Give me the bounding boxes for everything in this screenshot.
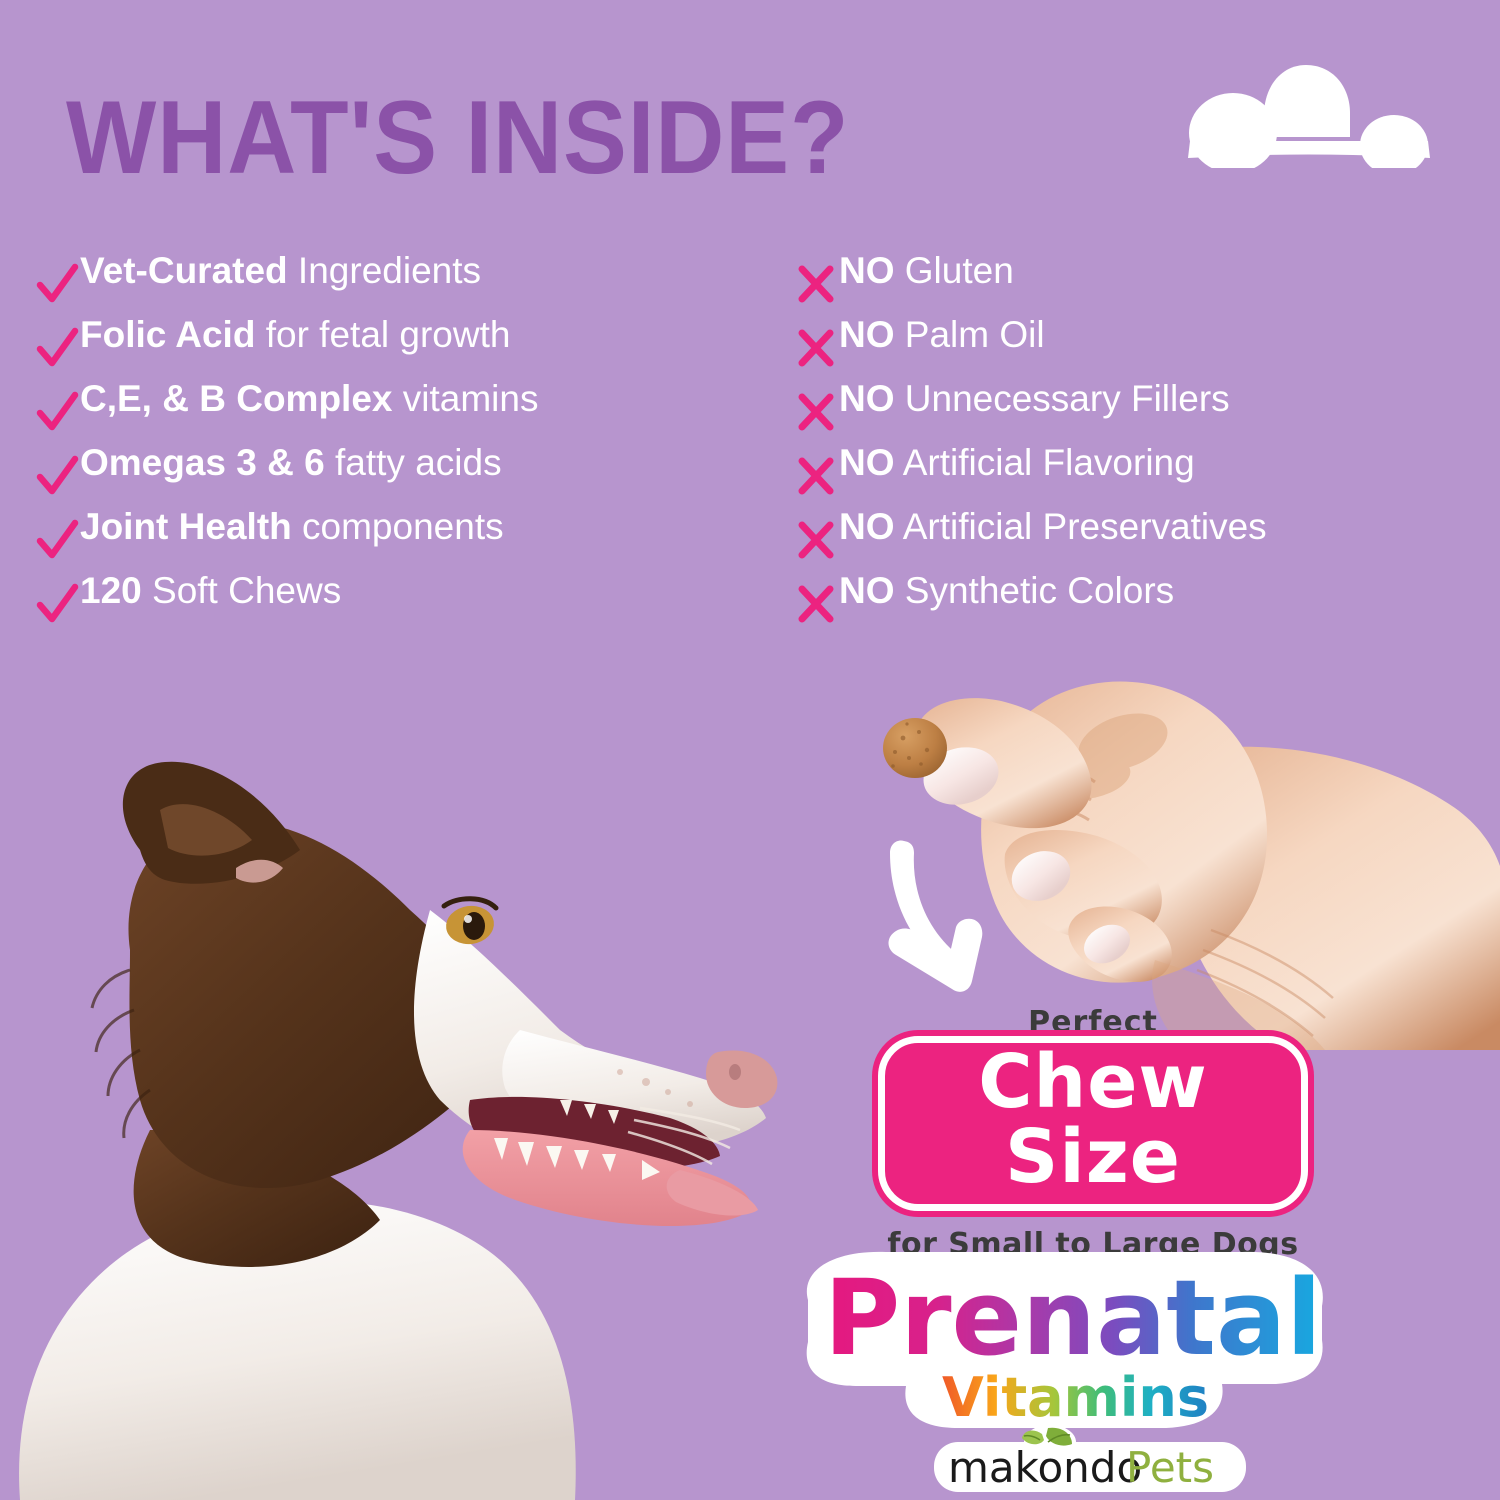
list-item-bold: Joint Health: [80, 506, 292, 547]
list-item-rest: Artificial Preservatives: [895, 506, 1267, 547]
list-item: NO Artificial Preservatives: [793, 508, 1267, 572]
list-item-bold: NO: [839, 314, 895, 355]
list-item-rest: components: [292, 506, 504, 547]
list-item-rest: Ingredients: [288, 250, 481, 291]
list-item: NO Synthetic Colors: [793, 572, 1267, 636]
list-item-text: NO Artificial Flavoring: [839, 444, 1195, 481]
list-item: NO Palm Oil: [793, 316, 1267, 380]
chew-size-badge: Perfect Chew Size for Small to Large Dog…: [878, 1005, 1308, 1262]
check-icon: [34, 389, 80, 435]
includes-column: Vet-Curated Ingredients Folic Acid for f…: [34, 252, 538, 636]
brand-name-dark: makondo: [948, 1443, 1142, 1492]
list-item: C,E, & B Complex vitamins: [34, 380, 538, 444]
list-item-text: NO Palm Oil: [839, 316, 1045, 353]
check-icon: [34, 517, 80, 563]
list-item-bold: 120: [80, 570, 142, 611]
check-icon: [34, 325, 80, 371]
brand-logo: makondo Pets: [930, 1424, 1250, 1498]
list-item-bold: Vet-Curated: [80, 250, 288, 291]
product-subtitle-text: Vitamins: [942, 1366, 1209, 1429]
list-item-text: NO Gluten: [839, 252, 1014, 289]
chew-badge-main-text: Chew Size: [878, 1036, 1308, 1211]
border-collie-photo: [0, 700, 830, 1500]
check-icon: [34, 261, 80, 307]
check-icon: [34, 581, 80, 627]
list-item-bold: C,E, & B Complex: [80, 378, 393, 419]
list-item-text: NO Synthetic Colors: [839, 572, 1174, 609]
brand-name-green: Pets: [1126, 1443, 1214, 1492]
list-item: 120 Soft Chews: [34, 572, 538, 636]
list-item: Vet-Curated Ingredients: [34, 252, 538, 316]
list-item-bold: NO: [839, 506, 895, 547]
list-item: Joint Health components: [34, 508, 538, 572]
product-name-text: Prenatal: [824, 1257, 1322, 1379]
list-item-rest: Synthetic Colors: [895, 570, 1175, 611]
curved-down-arrow-icon: [878, 835, 998, 995]
list-item-text: NO Artificial Preservatives: [839, 508, 1267, 545]
list-item-bold: Folic Acid: [80, 314, 255, 355]
list-item-bold: NO: [839, 442, 895, 483]
cloud-icon: [1178, 63, 1438, 168]
list-item-bold: NO: [839, 570, 895, 611]
list-item: Omegas 3 & 6 fatty acids: [34, 444, 538, 508]
excludes-column: NO Gluten NO Palm Oil NO Unnecessary Fil…: [793, 252, 1267, 636]
product-infographic: WHAT'S INSIDE? Vet-Curated Ingredients F: [0, 0, 1500, 1500]
list-item: Folic Acid for fetal growth: [34, 316, 538, 380]
list-item-text: Omegas 3 & 6 fatty acids: [80, 444, 502, 481]
list-item-text: 120 Soft Chews: [80, 572, 341, 609]
check-icon: [34, 453, 80, 499]
feature-lists: Vet-Curated Ingredients Folic Acid for f…: [0, 252, 1500, 652]
list-item: NO Unnecessary Fillers: [793, 380, 1267, 444]
list-item-text: Folic Acid for fetal growth: [80, 316, 510, 353]
list-item-rest: Unnecessary Fillers: [895, 378, 1230, 419]
list-item-bold: NO: [839, 378, 895, 419]
cross-icon: [793, 389, 839, 435]
list-item-text: Joint Health components: [80, 508, 504, 545]
cross-icon: [793, 453, 839, 499]
cross-icon: [793, 261, 839, 307]
cross-icon: [793, 581, 839, 627]
list-item-rest: Artificial Flavoring: [895, 442, 1195, 483]
list-item-text: C,E, & B Complex vitamins: [80, 380, 538, 417]
list-item-text: NO Unnecessary Fillers: [839, 380, 1230, 417]
prenatal-vitamins-logo: Prenatal Vitamins: [790, 1248, 1330, 1433]
list-item-bold: NO: [839, 250, 895, 291]
list-item-rest: Palm Oil: [895, 314, 1045, 355]
page-title: WHAT'S INSIDE?: [66, 86, 849, 190]
list-item-rest: fatty acids: [325, 442, 502, 483]
list-item: NO Gluten: [793, 252, 1267, 316]
list-item: NO Artificial Flavoring: [793, 444, 1267, 508]
chew-badge-top-text: Perfect: [878, 1005, 1308, 1040]
cross-icon: [793, 517, 839, 563]
list-item-rest: Gluten: [895, 250, 1014, 291]
list-item-text: Vet-Curated Ingredients: [80, 252, 481, 289]
list-item-bold: Omegas 3 & 6: [80, 442, 325, 483]
cross-icon: [793, 325, 839, 371]
list-item-rest: Soft Chews: [142, 570, 341, 611]
list-item-rest: vitamins: [393, 378, 539, 419]
list-item-rest: for fetal growth: [255, 314, 510, 355]
